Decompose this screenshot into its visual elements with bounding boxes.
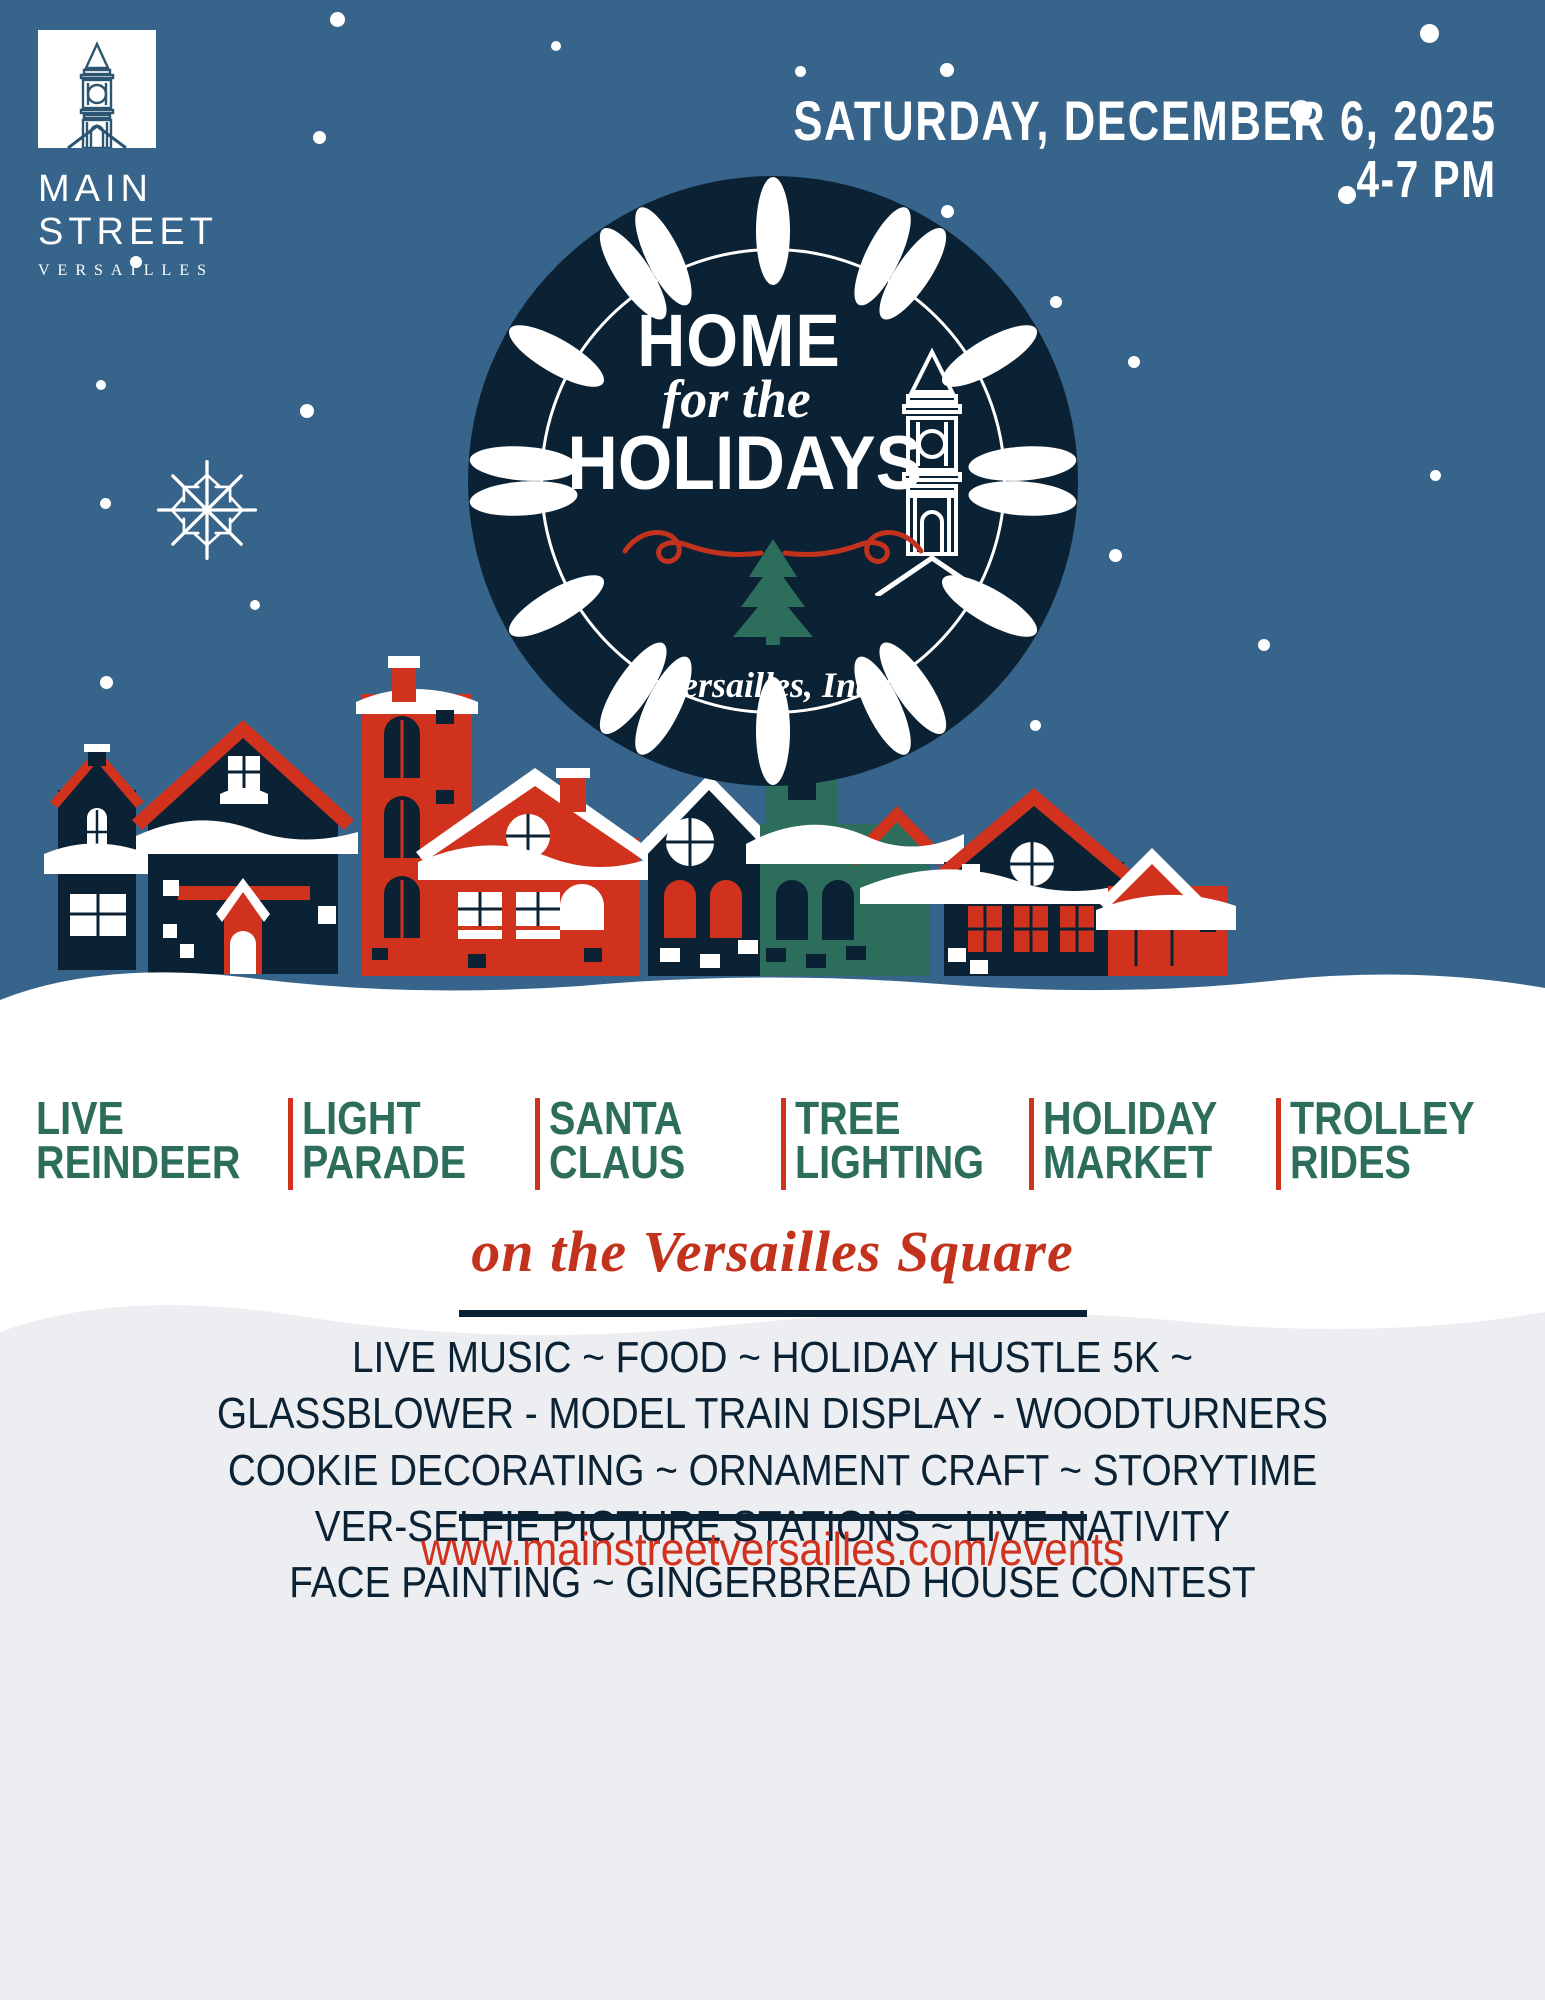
- snow-dot: [940, 63, 954, 77]
- activity-line-1: HOLIDAY: [1043, 1096, 1231, 1140]
- detail-line: GLASSBLOWER - MODEL TRAIN DISPLAY - WOOD…: [93, 1386, 1453, 1442]
- snow-dot: [795, 66, 806, 77]
- snow-dot: [1420, 24, 1439, 43]
- snow-dot: [300, 404, 314, 418]
- badge-location: Versailles, Ind.: [468, 664, 1078, 706]
- activities-band: LIVE REINDEER LIGHT PARADE SANTA CLAUS T…: [0, 1078, 1545, 1228]
- snow-dot: [1109, 549, 1122, 562]
- activity-line-1: LIGHT: [302, 1096, 490, 1140]
- logo-subtitle: VERSAILLES: [38, 262, 338, 280]
- event-datetime: SATURDAY, DECEMBER 6, 2025 4-7 PM: [595, 92, 1497, 211]
- activity-line-1: LIVE: [36, 1096, 240, 1140]
- activity-line-1: TREE: [795, 1096, 984, 1140]
- activity-line-1: SANTA: [549, 1096, 737, 1140]
- divider-rule-bottom: [459, 1514, 1087, 1521]
- detail-line: COOKIE DECORATING ~ ORNAMENT CRAFT ~ STO…: [93, 1443, 1453, 1499]
- activity-item-light-parade: LIGHT PARADE: [288, 1096, 535, 1184]
- location-script-text: on the Versailles Square: [471, 1219, 1074, 1284]
- activity-item-holiday-market: HOLIDAY MARKET: [1029, 1096, 1276, 1184]
- activity-item-santa-claus: SANTA CLAUS: [535, 1096, 782, 1184]
- activity-line-2: REINDEER: [36, 1140, 240, 1184]
- activity-line-2: PARADE: [302, 1140, 490, 1184]
- snow-dot: [330, 12, 345, 27]
- snow-dot: [551, 41, 561, 51]
- location-script-line: on the Versailles Square: [0, 1218, 1545, 1285]
- detail-line: LIVE MUSIC ~ FOOD ~ HOLIDAY HUSTLE 5K ~: [93, 1330, 1453, 1386]
- activity-line-2: CLAUS: [549, 1140, 737, 1184]
- main-street-logo: MAIN STREET VERSAILLES: [38, 30, 338, 280]
- event-date: SATURDAY, DECEMBER 6, 2025: [794, 92, 1497, 151]
- snow-dot: [1430, 470, 1441, 481]
- snow-dot: [100, 498, 111, 509]
- activity-line-2: RIDES: [1290, 1140, 1478, 1184]
- website-url[interactable]: www.mainstreetversailles.com/events: [62, 1522, 1483, 1576]
- courthouse-clock-tower-icon: [38, 30, 156, 148]
- snow-dot: [1128, 356, 1140, 368]
- logo-name: MAIN STREET: [38, 168, 338, 254]
- hero-sky-panel: MAIN STREET VERSAILLES SATURDAY, DECEMBE…: [0, 0, 1545, 1078]
- activity-item-live-reindeer: LIVE REINDEER: [22, 1096, 288, 1184]
- snowflake-icon: [152, 455, 262, 565]
- activity-line-1: TROLLEY: [1290, 1096, 1478, 1140]
- activity-item-tree-lighting: TREE LIGHTING: [781, 1096, 1029, 1184]
- holiday-event-poster: MAIN STREET VERSAILLES SATURDAY, DECEMBE…: [0, 0, 1545, 2000]
- divider-rule-top: [459, 1310, 1087, 1317]
- snow-dot: [96, 380, 106, 390]
- details-panel: LIVE MUSIC ~ FOOD ~ HOLIDAY HUSTLE 5K ~ …: [0, 1272, 1545, 2000]
- event-time: 4-7 PM: [794, 151, 1497, 211]
- badge-title-home: HOME: [637, 306, 840, 376]
- badge-title-forthe: for the: [662, 372, 811, 426]
- activity-line-2: MARKET: [1043, 1140, 1231, 1184]
- snow-dot: [250, 600, 260, 610]
- activity-line-2: LIGHTING: [795, 1140, 984, 1184]
- activity-item-trolley-rides: TROLLEY RIDES: [1276, 1096, 1523, 1184]
- badge-title-holidays: HOLIDAYS: [567, 428, 922, 499]
- home-for-the-holidays-badge: HOME for the HOLIDAYS Versailles, Ind.: [468, 176, 1078, 786]
